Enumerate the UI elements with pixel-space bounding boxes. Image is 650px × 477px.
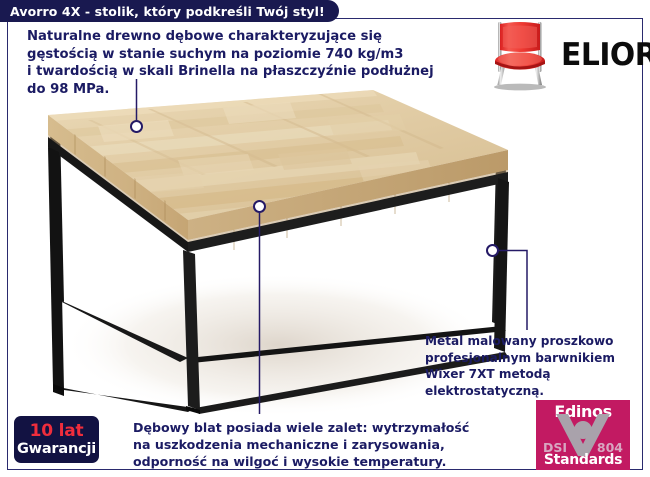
title-bar: Avorro 4X - stolik, który podkreśli Twój… [0,0,339,22]
callout-text-wood: Naturalne drewno dębowe charakteryzujące… [27,28,434,98]
callout-text-metal-line-3: Wixer 7XT metodą [425,366,615,383]
certificate-standards-label: Standards [536,452,630,468]
callout-text-tabletop-line-1: Dębowy blat posiada wiele zalet: wytrzym… [133,419,469,436]
warranty-years: 10 lat [30,423,84,440]
certificate-logo-edinos: Edinos DSI 804 Standards [536,400,630,470]
page-title: Avorro 4X - stolik, który podkreśli Twój… [10,4,325,19]
callout-marker-metal[interactable] [486,244,499,257]
callout-text-tabletop-line-2: na uszkodzenia mechaniczne i zarysowania… [133,436,469,453]
callout-text-wood-line-3: i twardością w skali Brinella na płaszcz… [27,63,434,81]
callout-text-wood-line-2: gęstością w stanie suchym na poziomie 74… [27,46,434,64]
warranty-word: Gwarancji [17,442,96,457]
callout-text-tabletop: Dębowy blat posiada wiele zalet: wytrzym… [133,419,469,471]
brand-logo-elior: ELIOR [487,17,637,93]
callout-text-metal-line-2: profesjonalnym barwnikiem [425,350,615,367]
callout-text-wood-line-1: Naturalne drewno dębowe charakteryzujące… [27,28,434,46]
red-chair-icon [487,19,553,91]
callout-text-metal: Metal malowany proszkowo profesjonalnym … [425,333,615,399]
callout-text-wood-line-4: do 98 MPa. [27,81,434,99]
warranty-badge: 10 lat Gwarancji [14,416,99,463]
infographic-canvas: Avorro 4X - stolik, który podkreśli Twój… [0,0,650,477]
callout-marker-tabletop[interactable] [253,200,266,213]
brand-name-text: ELIOR [561,40,650,71]
callout-marker-wood[interactable] [130,120,143,133]
callout-text-tabletop-line-3: odporność na wilgoć i wysokie temperatur… [133,453,469,470]
callout-text-metal-line-4: elektrostatyczną. [425,383,615,400]
callout-text-metal-line-1: Metal malowany proszkowo [425,333,615,350]
